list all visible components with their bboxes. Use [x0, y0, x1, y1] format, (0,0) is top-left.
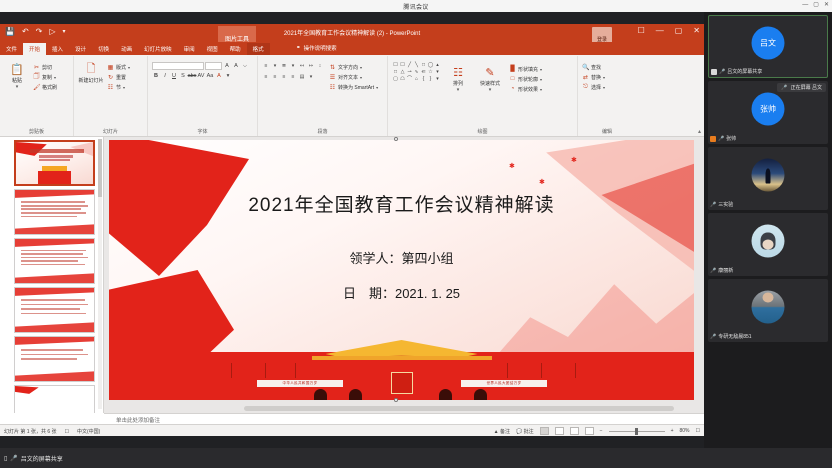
screen-share-bar: ▯ 🎤 吕文的屏幕共享: [0, 448, 832, 468]
format-painter-label: 格式刷: [42, 84, 57, 91]
participant-label: 🎤 吕文的屏幕共享: [711, 68, 762, 75]
find-label: 查找: [591, 64, 601, 71]
status-left: 幻灯片 第 1 张，共 6 张 ☐ 中文(中国): [4, 428, 100, 435]
ribbon-group-slides: 🗋 新建幻灯片 ▦ 版式 ▾ ↻ 重置: [74, 56, 148, 136]
participant-name: 张帅: [726, 135, 736, 142]
avatar: [752, 290, 785, 323]
shape-outline-icon: □: [509, 76, 516, 82]
monitor-icon: ▯: [4, 455, 7, 462]
selection-handle-bottom[interactable]: [394, 398, 398, 402]
participant-name: 专研无敌晨851: [718, 333, 751, 340]
tab-view[interactable]: 视图: [201, 43, 224, 56]
shape-square-icon[interactable]: □: [420, 61, 427, 68]
copy-icon: 🗍: [33, 72, 40, 82]
tencent-meeting-title: 腾讯会议: [403, 2, 428, 11]
thumbnails-scrollbar[interactable]: [98, 139, 102, 409]
fit-to-window-icon[interactable]: ☐: [696, 428, 700, 434]
text-direction-button[interactable]: ⇅ 文字方向 ▾: [329, 62, 378, 72]
ribbon: 📋 粘贴 ▾ ✂ 剪切 🗍 复制 ▾: [0, 55, 704, 137]
chevron-down-icon[interactable]: ▾: [128, 65, 130, 70]
gate-arch: [314, 389, 327, 400]
reset-icon: ↻: [107, 74, 114, 81]
participant-tile-1[interactable]: 吕文 🎤 吕文的屏幕共享: [708, 15, 828, 78]
speaking-badge-label: 正在屏幕 吕文: [791, 84, 822, 91]
chevron-down-icon[interactable]: ▾: [16, 84, 19, 90]
preview-title-line: [30, 149, 84, 153]
shapes-more-icon[interactable]: ▾: [434, 75, 441, 82]
copy-label: 复制: [42, 74, 52, 81]
scroll-up-icon[interactable]: ▴: [434, 61, 441, 68]
increase-indent-icon[interactable]: ↦: [307, 62, 315, 70]
collapse-ribbon-icon[interactable]: ▴: [698, 128, 701, 135]
align-text-button[interactable]: ☰ 对齐文本 ▾: [329, 72, 378, 82]
text-line: [21, 212, 86, 214]
chevron-down-icon[interactable]: ▾: [307, 73, 315, 81]
shape-star-icon[interactable]: ☆: [427, 68, 434, 75]
paste-icon: 📋: [9, 61, 25, 77]
slide-count-label: 幻灯片 第 1 张，共 6 张: [4, 428, 57, 435]
preview-sub-line2: [39, 159, 70, 162]
zoom-slider[interactable]: [609, 431, 665, 432]
header-band: [15, 288, 94, 296]
participant-tile-3[interactable]: 🎤 三实验: [708, 147, 828, 210]
ribbon-tabs[interactable]: 文件 开始 插入 设计 切换 动画 幻灯片放映 审阅 视图 帮助 格式: [0, 42, 704, 55]
replace-label: 替换: [591, 74, 601, 81]
slide-thumbnail-2[interactable]: 2: [14, 189, 95, 235]
ribbon-group-editing: 🔍 查找 ⇄ 替换 ▾ ⎋ 选择 ▾ 编辑: [578, 56, 636, 136]
bird-icon: ✱: [539, 178, 545, 186]
avatar: [752, 158, 785, 191]
layout-icon: ▦: [107, 64, 114, 71]
text-line: [21, 201, 84, 203]
participant-label: 🎤 三实验: [710, 201, 733, 208]
mic-muted-icon: 🎤: [710, 268, 716, 274]
group-label-drawing: 绘图: [388, 128, 577, 135]
tab-review[interactable]: 审阅: [178, 43, 201, 56]
quick-styles-icon: ✎: [482, 64, 498, 80]
chevron-down-icon[interactable]: ▾: [603, 85, 605, 90]
flag-icon: [232, 363, 244, 370]
font-name-input[interactable]: [152, 62, 204, 70]
mic-icon: 🎤: [719, 69, 725, 75]
view-reading-icon[interactable]: [570, 427, 579, 435]
gate-arch: [474, 389, 487, 400]
restore-icon[interactable]: ▢: [675, 26, 683, 35]
chevron-down-icon[interactable]: ▾: [54, 75, 56, 80]
find-button[interactable]: 🔍 查找: [582, 62, 632, 72]
notes-button[interactable]: ▲ 备注: [494, 428, 510, 435]
slide-preview: [15, 337, 94, 381]
selection-handle-top[interactable]: [394, 137, 398, 141]
comments-button[interactable]: 💬 批注: [516, 428, 534, 435]
zoom-out-icon[interactable]: −: [600, 428, 603, 434]
gate-arch: [439, 389, 452, 400]
text-line: [21, 349, 83, 351]
text-line: [21, 264, 84, 266]
bird-icon: ✱: [509, 162, 515, 170]
text-line: [21, 313, 86, 315]
chevron-down-icon[interactable]: ▾: [540, 87, 542, 92]
cut-label: 剪切: [42, 64, 52, 71]
line-spacing-icon[interactable]: ↕: [316, 62, 324, 70]
shape-effects-label: 形状效果: [518, 86, 538, 93]
arrange-button[interactable]: ☷ 排列 ▾: [445, 61, 471, 94]
shape-rounded-icon[interactable]: ☐: [399, 61, 406, 68]
bold-icon[interactable]: B: [152, 72, 160, 80]
comments-button-label: 批注: [524, 429, 534, 435]
flag-icon: [576, 363, 588, 370]
text-line: [21, 260, 78, 262]
avatar: 吕文: [752, 26, 785, 59]
chevron-down-icon[interactable]: ▾: [376, 85, 378, 90]
participant-name: 吕文的屏幕共享: [727, 68, 762, 75]
tab-animations[interactable]: 动画: [115, 43, 138, 56]
font-color-icon[interactable]: A: [215, 72, 223, 80]
tencent-meeting-titlebar: 腾讯会议 — ▢ ✕: [0, 0, 832, 12]
slide-thumbnail-4[interactable]: 4: [14, 287, 95, 333]
align-row[interactable]: ≡ ≡ ≡ ≡ ▤ ▾: [262, 73, 324, 81]
view-sorter-icon[interactable]: [555, 427, 564, 435]
shape-fill-label: 形状填充: [518, 66, 538, 73]
layout-label: 版式: [116, 64, 126, 71]
gate-arch: [349, 389, 362, 400]
minimize-icon[interactable]: —: [656, 26, 664, 35]
arrange-icon: ☷: [450, 64, 466, 80]
shape-fill-icon: █: [509, 66, 516, 72]
text-line: [21, 308, 79, 310]
text-line: [21, 304, 88, 306]
strikethrough-icon[interactable]: abc: [188, 72, 196, 80]
minimize-icon[interactable]: —: [802, 1, 808, 10]
shape-oval-icon[interactable]: ◯: [427, 61, 434, 68]
flag-icon: [296, 363, 308, 370]
shape-outline-label: 形状轮廓: [518, 76, 538, 83]
shape-line-icon[interactable]: ╱: [406, 61, 413, 68]
shape-fill-button[interactable]: █ 形状填充 ▾: [509, 64, 542, 74]
find-icon: 🔍: [582, 64, 589, 71]
new-slide-label: 新建幻灯片: [78, 78, 103, 84]
select-button[interactable]: ⎋ 选择 ▾: [582, 82, 632, 92]
slide-preview: [15, 190, 94, 234]
tab-format[interactable]: 格式: [247, 43, 270, 56]
text-line: [21, 253, 83, 255]
character-spacing-icon[interactable]: AV: [197, 72, 205, 80]
underline-icon[interactable]: U: [170, 72, 178, 80]
group-label-paragraph: 段落: [258, 128, 387, 135]
participant-label: 🎤 张帅: [710, 135, 736, 142]
slide-thumbnail-5[interactable]: 5: [14, 336, 95, 382]
language-label[interactable]: 中文(中国): [77, 428, 100, 435]
shadow-icon[interactable]: S: [179, 72, 187, 80]
gate-door: [391, 372, 413, 394]
chevron-down-icon[interactable]: ▾: [123, 85, 125, 90]
text-line: [21, 250, 86, 252]
ribbon-group-font: A A ⌵ B I U S abc AV Aa A ▾: [148, 56, 258, 136]
horizontal-scrollbar[interactable]: [244, 406, 674, 411]
shape-rect-icon[interactable]: ☐: [392, 61, 399, 68]
replace-icon: ⇄: [582, 74, 589, 81]
tab-design[interactable]: 设计: [69, 43, 92, 56]
shape-arrow2-icon[interactable]: ⇚: [420, 68, 427, 75]
view-normal-icon[interactable]: [540, 427, 549, 435]
powerpoint-window-controls[interactable]: ☐ — ▢ ✕: [638, 26, 700, 35]
tell-me-search[interactable]: ⚭ 操作说明搜索: [296, 44, 337, 52]
host-icon: [710, 136, 716, 142]
header-band: [15, 190, 94, 198]
smartart-icon: ☷: [329, 84, 336, 91]
change-case-icon[interactable]: Aa: [206, 72, 214, 80]
section-icon: ☷: [107, 84, 114, 91]
increase-font-size-icon[interactable]: A: [223, 62, 231, 70]
text-direction-label: 文字方向: [338, 64, 358, 71]
shape-arrow-icon[interactable]: ╲: [413, 61, 420, 68]
flag-icon: [542, 363, 554, 370]
bird-icon: ✱: [571, 156, 577, 164]
chevron-down-icon[interactable]: ▾: [360, 75, 362, 80]
chevron-down-icon[interactable]: ▾: [224, 72, 232, 80]
replace-button[interactable]: ⇄ 替换 ▾: [582, 72, 632, 82]
ribbon-group-drawing: ☐ ☐ ╱ ╲ □ ◯ ▴ □ △ ⊸ ∿ ⇚ ☆ ▾ ▢: [388, 56, 578, 136]
tab-transitions[interactable]: 切换: [92, 43, 115, 56]
zoom-slider-thumb[interactable]: [635, 428, 638, 435]
reset-button[interactable]: ↻ 重置: [107, 72, 130, 82]
shape-box-icon[interactable]: ▢: [392, 75, 399, 82]
text-line: [21, 257, 87, 259]
chevron-down-icon[interactable]: ▾: [540, 67, 542, 72]
section-label: 节: [116, 84, 121, 91]
tab-file[interactable]: 文件: [0, 43, 23, 56]
mic-muted-icon: 🎤: [710, 202, 716, 208]
clear-formatting-icon[interactable]: ⌵: [241, 62, 249, 70]
bulleted-list-icon[interactable]: ≡: [262, 62, 270, 70]
select-label: 选择: [591, 84, 601, 91]
italic-icon[interactable]: I: [161, 72, 169, 80]
font-size-input[interactable]: [205, 62, 222, 70]
layout-button[interactable]: ▦ 版式 ▾: [107, 62, 130, 72]
text-line: [21, 354, 87, 356]
red-ribbon-shape: [15, 386, 39, 399]
align-left-icon[interactable]: ≡: [262, 73, 270, 81]
align-right-icon[interactable]: ≡: [280, 73, 288, 81]
header-band: [15, 337, 94, 345]
justify-icon[interactable]: ≡: [289, 73, 297, 81]
shapes-gallery[interactable]: ☐ ☐ ╱ ╲ □ ◯ ▴ □ △ ⊸ ∿ ⇚ ☆ ▾ ▢: [392, 61, 441, 94]
shape-rect2-icon[interactable]: □: [392, 68, 399, 75]
quick-styles-button[interactable]: ✎ 快速样式 ▾: [475, 61, 505, 94]
copy-button[interactable]: 🗍 复制 ▾: [33, 72, 57, 82]
tencent-window-controls[interactable]: — ▢ ✕: [802, 1, 829, 10]
avatar: [752, 224, 785, 257]
cut-icon: ✂: [33, 64, 40, 71]
notes-pane[interactable]: 单击此处添加备注: [104, 413, 704, 424]
cut-button[interactable]: ✂ 剪切: [33, 62, 57, 72]
tab-help[interactable]: 帮助: [224, 43, 247, 56]
screen-share-label: 吕文的屏幕共享: [21, 454, 63, 463]
smartart-label: 转换为 SmartArt: [338, 84, 374, 91]
ribbon-group-paragraph: ≡ ▾ ≣ ▾ ↤ ↦ ↕ ≡ ≡ ≡ ≡: [258, 56, 388, 136]
close-icon[interactable]: ✕: [824, 1, 829, 10]
shape-triangle-icon[interactable]: △: [399, 68, 406, 75]
powerpoint-status-bar: 幻灯片 第 1 张，共 6 张 ☐ 中文(中国) ▲ 备注 💬 批注 − + 8…: [0, 424, 704, 436]
lightbulb-icon: ⚭: [296, 45, 301, 51]
speaking-badge: 🎤 正在屏幕 吕文: [777, 83, 826, 92]
notes-button-label: 备注: [500, 429, 510, 435]
reset-label: 重置: [116, 74, 126, 81]
text-line: [21, 205, 87, 207]
new-slide-icon: 🗋: [83, 61, 99, 77]
shape-curve-icon[interactable]: ⊸: [406, 68, 413, 75]
shape-effects-icon: ◔: [509, 86, 516, 92]
footer-band: [15, 224, 94, 234]
red-ribbon-shape: [16, 142, 47, 165]
slide-preview: [15, 239, 94, 283]
slide-canvas-area: ✱ ✱ ✱ 2021年全国教育工作会议精神解读 领学人：第四小组 日 期：202…: [104, 137, 704, 413]
banner-left-text: 中华人民共和国万岁: [282, 381, 317, 386]
mic-icon: 🎤: [781, 85, 787, 91]
current-slide[interactable]: ✱ ✱ ✱ 2021年全国教育工作会议精神解读 领学人：第四小组 日 期：202…: [109, 140, 694, 400]
footer-band: [15, 273, 94, 283]
screen-share-chip: ▯ 🎤 吕文的屏幕共享: [4, 454, 63, 463]
view-slideshow-icon[interactable]: [585, 427, 594, 435]
shape-curve2-icon[interactable]: ⌒: [406, 75, 413, 82]
slide-presenter-line[interactable]: 领学人：第四小组: [109, 248, 694, 267]
zoom-in-icon[interactable]: +: [671, 428, 674, 434]
participant-label: 🎤 康丽新: [710, 267, 733, 274]
group-label-slides: 幻灯片: [74, 128, 147, 135]
participant-tile-2[interactable]: 🎤 正在屏幕 吕文 张帅 🎤 张帅: [708, 81, 828, 144]
shape-callout-icon[interactable]: ☖: [399, 75, 406, 82]
text-line: [21, 216, 76, 218]
banner-right-text: 世界人民大团结万岁: [486, 381, 521, 386]
spellcheck-icon[interactable]: ☐: [65, 429, 69, 435]
paste-button[interactable]: 📋 粘贴 ▾: [4, 58, 30, 92]
chevron-down-icon[interactable]: ▾: [289, 62, 297, 70]
slide-thumbnail-3[interactable]: 3: [14, 238, 95, 284]
participant-tile-4[interactable]: 🎤 康丽新: [708, 213, 828, 276]
slide-thumbnail-1[interactable]: 1: [14, 140, 95, 186]
ribbon-display-options-icon[interactable]: ☐: [638, 26, 645, 35]
slide-title[interactable]: 2021年全国教育工作会议精神解读: [109, 190, 694, 217]
participant-tile-5[interactable]: 🎤 专研无敌晨851: [708, 279, 828, 342]
header-band: [15, 239, 94, 247]
tab-insert[interactable]: 插入: [46, 43, 69, 56]
align-center-icon[interactable]: ≡: [271, 73, 279, 81]
columns-icon[interactable]: ▤: [298, 73, 306, 81]
notes-placeholder: 单击此处添加备注: [116, 416, 160, 424]
shape-brace-left-icon[interactable]: {: [420, 75, 427, 82]
text-line: [21, 208, 81, 210]
participant-rail: 吕文 🎤 吕文的屏幕共享 🎤 正在屏幕 吕文 张帅 🎤 张帅 🎤: [704, 12, 832, 448]
chevron-down-icon[interactable]: ▾: [360, 65, 362, 70]
chevron-down-icon[interactable]: ▾: [489, 87, 492, 93]
preview-sub-line: [39, 155, 73, 158]
smartart-button[interactable]: ☷ 转换为 SmartArt ▾: [329, 82, 378, 92]
banner-right: 世界人民大团结万岁: [461, 380, 547, 387]
footer-band: [15, 371, 94, 381]
maximize-icon[interactable]: ▢: [813, 1, 819, 10]
slide-thumbnails-panel[interactable]: 1 2: [0, 137, 104, 413]
scroll-down-icon[interactable]: ▾: [434, 68, 441, 75]
format-painter-icon: 🖌: [33, 84, 40, 91]
avatar: 张帅: [752, 92, 785, 125]
chevron-down-icon[interactable]: ▾: [457, 87, 460, 93]
tab-slideshow[interactable]: 幻灯片放映: [138, 43, 178, 56]
ribbon-group-clipboard: 📋 粘贴 ▾ ✂ 剪切 🗍 复制 ▾: [0, 56, 74, 136]
shape-arc-icon[interactable]: ⌂: [413, 75, 420, 82]
numbered-list-icon[interactable]: ≣: [280, 62, 288, 70]
shape-effects-button[interactable]: ◔ 形状效果 ▾: [509, 84, 542, 94]
group-label-font: 字体: [148, 128, 257, 135]
mic-muted-icon: 🎤: [718, 136, 724, 142]
slide-date-line[interactable]: 日 期：2021. 1. 25: [109, 283, 694, 302]
flag-icon: [508, 363, 520, 370]
footer-band: [15, 322, 94, 332]
text-line: [21, 299, 84, 301]
format-painter-button[interactable]: 🖌 格式刷: [33, 82, 57, 92]
mic-icon: 🎤: [10, 455, 17, 462]
decrease-font-size-icon[interactable]: A: [232, 62, 240, 70]
decrease-indent-icon[interactable]: ↤: [298, 62, 306, 70]
close-icon[interactable]: ✕: [693, 26, 700, 35]
section-button[interactable]: ☷ 节 ▾: [107, 82, 130, 92]
new-slide-button[interactable]: 🗋 新建幻灯片: [78, 58, 104, 92]
mic-muted-icon: 🎤: [710, 334, 716, 340]
tell-me-label: 操作说明搜索: [304, 44, 337, 52]
text-line: [21, 358, 76, 360]
slide-preview: [16, 142, 93, 184]
screen: 腾讯会议 — ▢ ✕ 💾 ↶ ↷ ▷ ▾ 图片工具 2021年全国教育工作会议精…: [0, 0, 832, 468]
chevron-down-icon[interactable]: ▾: [603, 75, 605, 80]
shape-freeform-icon[interactable]: ∿: [413, 68, 420, 75]
select-icon: ⎋: [582, 84, 589, 91]
chevron-down-icon[interactable]: ▾: [271, 62, 279, 70]
slide-preview: [15, 288, 94, 332]
chevron-down-icon[interactable]: ▾: [540, 77, 542, 82]
tiananmen-shape: [38, 171, 72, 184]
list-row[interactable]: ≡ ▾ ≣ ▾ ↤ ↦ ↕: [262, 62, 324, 70]
shape-outline-button[interactable]: □ 形状轮廓 ▾: [509, 74, 542, 84]
group-label-editing: 编辑: [578, 128, 636, 135]
banner-left: 中华人民共和国万岁: [257, 380, 343, 387]
flag-icon: [266, 363, 278, 370]
status-right[interactable]: ▲ 备注 💬 批注 − + 80% ☐: [494, 427, 700, 435]
align-text-label: 对齐文本: [338, 74, 358, 81]
align-text-icon: ☰: [329, 74, 336, 81]
shared-screen-powerpoint: 💾 ↶ ↷ ▷ ▾ 图片工具 2021年全国教育工作会议精神解读 (2) - P…: [0, 24, 704, 436]
screen-share-icon: [711, 69, 717, 75]
group-label-clipboard: 剪贴板: [0, 128, 73, 135]
powerpoint-titlebar: 💾 ↶ ↷ ▷ ▾ 图片工具 2021年全国教育工作会议精神解读 (2) - P…: [0, 24, 704, 42]
slide-preview: [15, 386, 94, 413]
participant-name: 三实验: [718, 201, 733, 208]
zoom-level-label[interactable]: 80%: [680, 428, 690, 434]
tab-home[interactable]: 开始: [23, 43, 46, 56]
text-direction-icon: ⇅: [329, 64, 336, 71]
participant-name: 康丽新: [718, 267, 733, 274]
slide-thumbnail-6[interactable]: 6: [14, 385, 95, 413]
participant-label: 🎤 专研无敌晨851: [710, 333, 752, 340]
shape-brace-right-icon[interactable]: }: [427, 75, 434, 82]
